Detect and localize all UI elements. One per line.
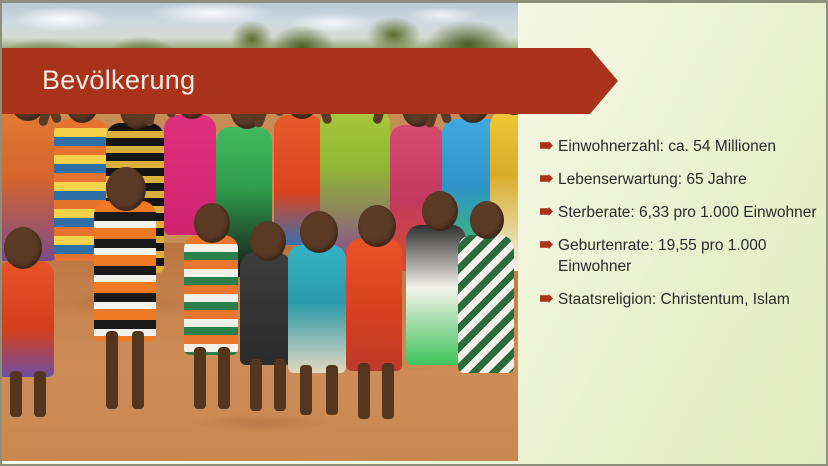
list-item: Lebenserwartung: 65 Jahre bbox=[540, 169, 822, 190]
arrow-bullet-icon bbox=[540, 174, 558, 183]
list-item: Staatsreligion: Christentum, Islam bbox=[540, 289, 822, 310]
arrow-bullet-icon bbox=[540, 207, 558, 216]
list-item-label: Lebenserwartung: 65 Jahre bbox=[558, 169, 822, 190]
presentation-slide: Bevölkerung Einwohnerzahl: ca. 54 Millio… bbox=[0, 0, 828, 466]
list-item: Einwohnerzahl: ca. 54 Millionen bbox=[540, 136, 822, 157]
title-banner: Bevölkerung bbox=[2, 48, 618, 114]
list-item-label: Einwohnerzahl: ca. 54 Millionen bbox=[558, 136, 822, 157]
arrow-bullet-icon bbox=[540, 141, 558, 150]
bullet-list: Einwohnerzahl: ca. 54 Millionen Lebenser… bbox=[540, 136, 822, 322]
list-item-label: Staatsreligion: Christentum, Islam bbox=[558, 289, 822, 310]
arrow-bullet-icon bbox=[540, 294, 558, 303]
page-title: Bevölkerung bbox=[42, 65, 195, 96]
list-item: Sterberate: 6,33 pro 1.000 Einwohner bbox=[540, 202, 822, 223]
photo-crowd bbox=[2, 75, 518, 375]
list-item-label: Sterberate: 6,33 pro 1.000 Einwohner bbox=[558, 202, 822, 223]
list-item: Geburtenrate: 19,55 pro 1.000 Einwohner bbox=[540, 235, 822, 277]
list-item-label: Geburtenrate: 19,55 pro 1.000 Einwohner bbox=[558, 235, 822, 277]
arrow-bullet-icon bbox=[540, 240, 558, 249]
